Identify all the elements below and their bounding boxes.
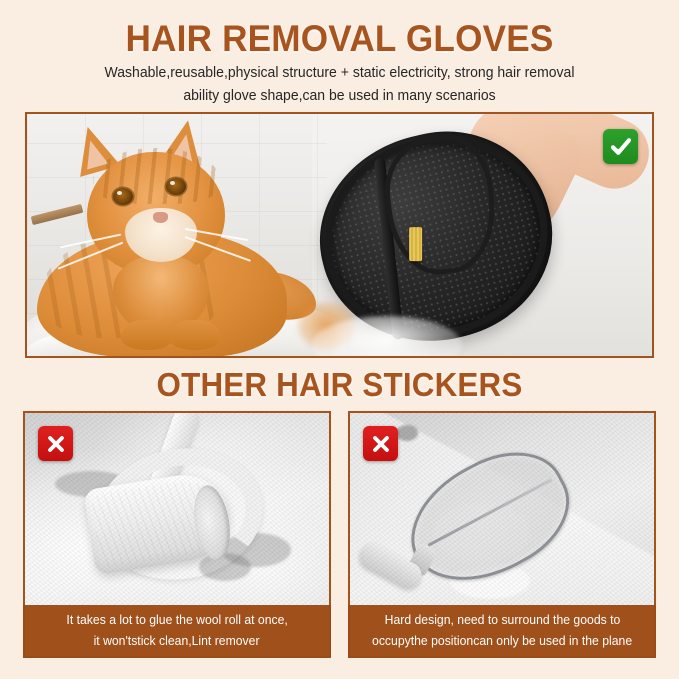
comparison-panel-lint-roller [23,411,331,605]
cat-eye-left [113,188,133,205]
close-icon [370,433,392,455]
caption-line-1: It takes a lot to glue the wool roll at … [66,610,287,631]
orange-tabby-cat [35,122,325,352]
page-title: HAIR REMOVAL GLOVES [17,17,662,61]
subtitle-line-1: Washable,reusable,physical structure + s… [52,62,627,85]
check-icon [609,135,633,159]
yellow-tag [409,227,422,261]
cat-paw-right [169,320,221,350]
caption-lint-roller: It takes a lot to glue the wool roll at … [23,605,331,658]
caption-line-2: occupythe positioncan only be used in th… [372,631,632,652]
cat-paw-left [121,320,173,350]
hero-photo-panel [25,112,654,358]
cat-eye-right [166,178,186,195]
comparison-panel-lint-brush [348,411,656,605]
x-badge [363,426,398,461]
product-infographic-page: HAIR REMOVAL GLOVES Washable,reusable,ph… [0,0,679,679]
caption-lint-brush: Hard design, need to surround the goods … [348,605,656,658]
cat-nose [153,212,168,223]
x-badge [38,426,73,461]
subtitle-line-2: ability glove shape,can be used in many … [52,85,627,108]
gloved-hand [306,126,636,356]
hero-photo [27,114,652,356]
caption-line-1: Hard design, need to surround the goods … [384,610,620,631]
lint-brush-photo [350,413,654,605]
close-icon [45,433,67,455]
page-subtitle: Washable,reusable,physical structure + s… [52,62,627,108]
check-badge [603,129,638,164]
section-title: OTHER HAIR STICKERS [17,366,662,404]
caption-line-2: it won'tstick clean,Lint remover [94,631,260,652]
lint-roller-photo [25,413,329,605]
